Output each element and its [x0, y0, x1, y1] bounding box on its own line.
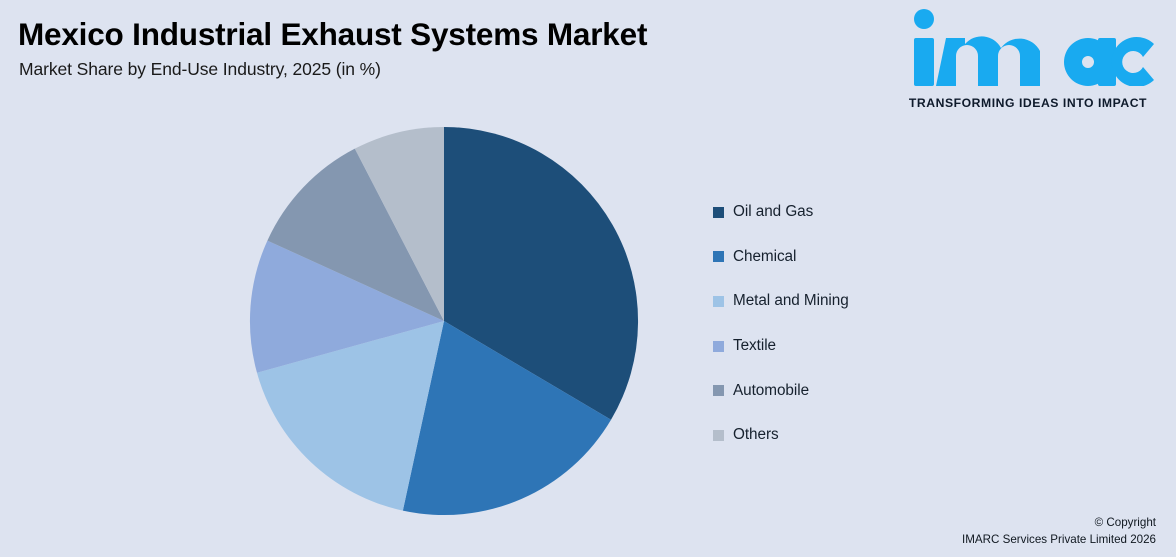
legend-label: Chemical — [733, 248, 796, 266]
imarc-logo: TRANSFORMING IDEAS INTO IMPACT — [902, 8, 1154, 108]
logo-tagline: TRANSFORMING IDEAS INTO IMPACT — [902, 96, 1154, 110]
chart-legend: Oil and GasChemicalMetal and MiningTexti… — [713, 190, 1033, 458]
legend-label: Others — [733, 426, 779, 444]
legend-label: Oil and Gas — [733, 203, 813, 221]
copyright-footer: © Copyright IMARC Services Private Limit… — [962, 515, 1156, 548]
legend-item[interactable]: Oil and Gas — [713, 190, 1033, 235]
legend-swatch-icon — [713, 251, 724, 262]
legend-item[interactable]: Others — [713, 413, 1033, 458]
legend-swatch-icon — [713, 296, 724, 307]
company-line: IMARC Services Private Limited 2026 — [962, 532, 1156, 549]
legend-swatch-icon — [713, 385, 724, 396]
copyright-line: © Copyright — [962, 515, 1156, 532]
legend-label: Textile — [733, 337, 776, 355]
imarc-wordmark-icon — [902, 8, 1154, 86]
legend-item[interactable]: Chemical — [713, 235, 1033, 280]
legend-swatch-icon — [713, 341, 724, 352]
pie-chart-area — [0, 0, 700, 557]
legend-item[interactable]: Metal and Mining — [713, 279, 1033, 324]
legend-label: Metal and Mining — [733, 292, 849, 310]
chart-canvas: Mexico Industrial Exhaust Systems Market… — [0, 0, 1176, 557]
legend-label: Automobile — [733, 382, 809, 400]
legend-swatch-icon — [713, 207, 724, 218]
legend-item[interactable]: Automobile — [713, 368, 1033, 413]
legend-swatch-icon — [713, 430, 724, 441]
pie-chart — [247, 124, 641, 518]
legend-item[interactable]: Textile — [713, 324, 1033, 369]
